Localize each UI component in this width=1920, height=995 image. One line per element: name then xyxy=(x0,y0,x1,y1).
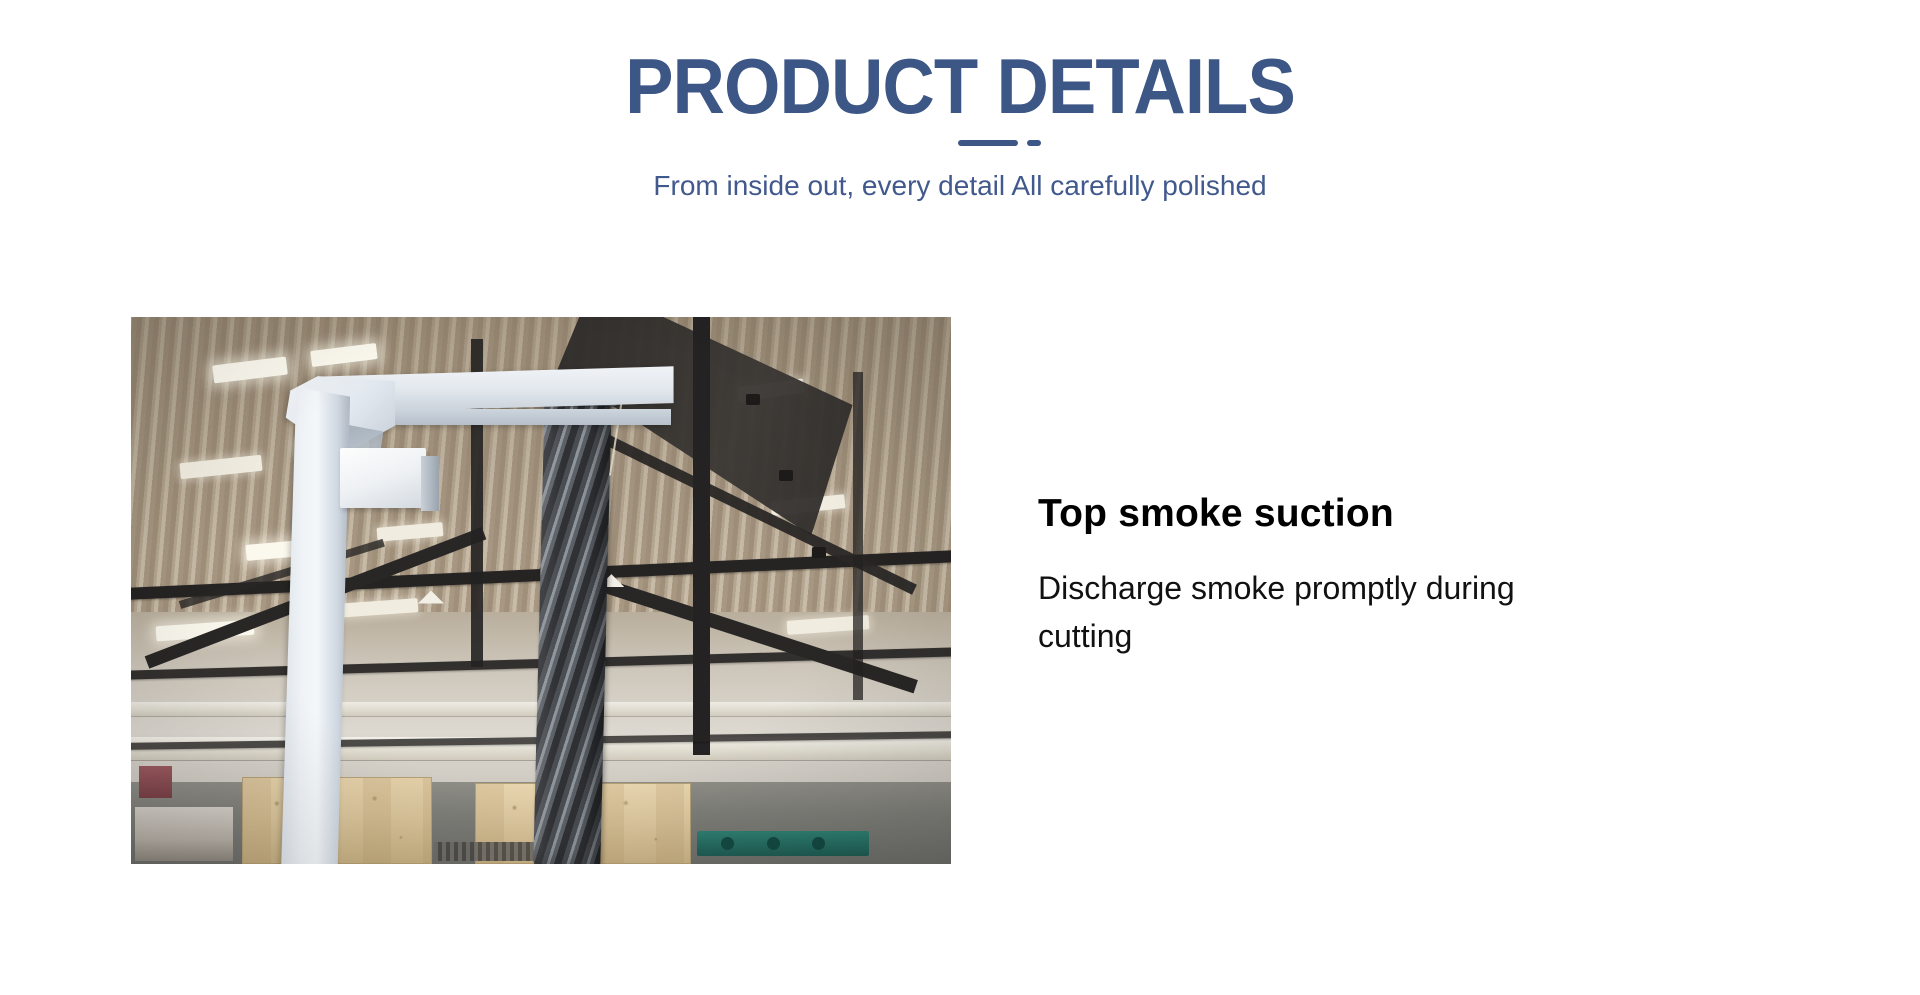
feature-text-block: Top smoke suction Discharge smoke prompt… xyxy=(1038,490,1598,660)
divider-long-dash-icon xyxy=(958,140,1018,146)
divider-short-dash-icon xyxy=(1027,140,1041,146)
page-header: PRODUCT DETAILS From inside out, every d… xyxy=(0,0,1920,204)
dash-divider xyxy=(0,136,1920,150)
photo-scene xyxy=(131,317,951,864)
feature-row: Top smoke suction Discharge smoke prompt… xyxy=(0,317,1920,877)
control-box xyxy=(340,448,426,508)
control-box-side-panel xyxy=(421,456,439,511)
red-bin xyxy=(139,766,172,799)
teal-box-knob-icon xyxy=(767,837,780,850)
pallet-stack xyxy=(135,807,233,862)
teal-box-knob-icon xyxy=(812,837,825,850)
roof-bracket-icon xyxy=(779,470,793,481)
roof-bracket-icon xyxy=(812,547,826,558)
page-subtitle: From inside out, every detail All carefu… xyxy=(0,150,1920,204)
steel-column xyxy=(853,372,863,700)
product-photo xyxy=(131,317,951,864)
feature-heading: Top smoke suction xyxy=(1038,490,1598,538)
feature-description: Discharge smoke promptly during cutting xyxy=(1038,538,1558,660)
page-title: PRODUCT DETAILS xyxy=(67,0,1853,130)
roof-bracket-icon xyxy=(746,394,760,405)
product-details-page: PRODUCT DETAILS From inside out, every d… xyxy=(0,0,1920,995)
white-gantry-arm xyxy=(262,366,738,864)
